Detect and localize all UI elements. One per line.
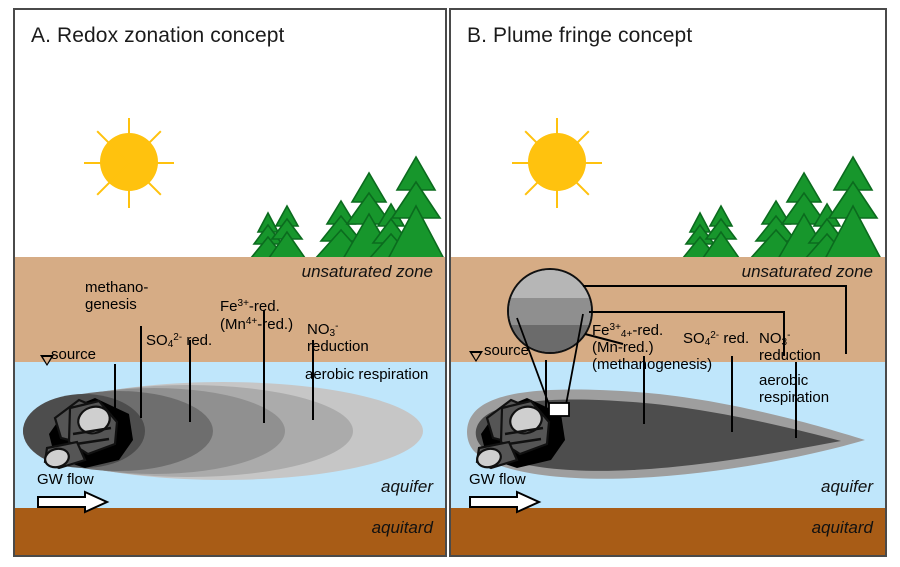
tree-group bbox=[245, 140, 445, 265]
iron-charge-b: 3+ bbox=[610, 322, 621, 333]
sun-ray bbox=[128, 163, 130, 208]
sun-ray bbox=[512, 162, 557, 164]
water-table-icon-b bbox=[469, 351, 483, 362]
sulfate-formula: SO bbox=[146, 332, 168, 349]
nitrate-reduction-label-b: NO3- reduction bbox=[759, 330, 821, 365]
tick-sulfate-b bbox=[731, 356, 733, 432]
sun-ray bbox=[128, 118, 130, 163]
panel-a-redox-zonation: A. Redox zonation concept bbox=[13, 8, 447, 557]
figure-root: A. Redox zonation concept bbox=[0, 0, 900, 567]
sulfate-suffix-b: red. bbox=[723, 330, 749, 347]
manganese-suffix: -red.) bbox=[257, 316, 293, 333]
iron-element-b: Fe bbox=[592, 322, 610, 339]
aerobic-respiration-label-b: aerobic respiration bbox=[759, 373, 829, 407]
sulfate-reduction-label-a: SO42- red. bbox=[146, 332, 212, 350]
tick-source-b bbox=[545, 360, 547, 412]
tick-methanogenesis-a bbox=[140, 326, 142, 418]
iron-charge: 3+ bbox=[238, 298, 249, 309]
sun-ray bbox=[556, 118, 558, 163]
nitrate-line2: reduction bbox=[307, 338, 369, 355]
tree-tall-2 bbox=[825, 157, 881, 259]
sun-ray bbox=[556, 163, 558, 208]
methanogenesis-label-a: methano- genesis bbox=[85, 280, 148, 314]
aquitard-label-a: aquitard bbox=[372, 518, 433, 538]
nitrate-reduction-label-a: NO3- reduction bbox=[307, 321, 369, 356]
manganese-element: (Mn bbox=[220, 316, 246, 333]
methanogenesis-parenthetical-b: (methanogenesis) bbox=[592, 356, 712, 373]
aquifer-label-a: aquifer bbox=[381, 477, 433, 497]
iron-element: Fe bbox=[220, 298, 238, 315]
gw-flow-label-b: GW flow bbox=[469, 471, 526, 488]
iron-manganese-reduction-label-a: Fe3+-red. (Mn4+-red.) bbox=[220, 298, 293, 334]
aquitard-label-b: aquitard bbox=[812, 518, 873, 538]
aerobic-line2-b: respiration bbox=[759, 389, 829, 406]
methanogenesis-line2: genesis bbox=[85, 296, 137, 313]
sulfate-suffix: red. bbox=[186, 332, 212, 349]
panel-b-plume-fringe: B. Plume fringe concept bbox=[449, 8, 887, 557]
sun-ray bbox=[84, 162, 129, 164]
source-label-a: source bbox=[51, 347, 96, 364]
nitrate-sup: - bbox=[335, 321, 338, 332]
sun-ray bbox=[129, 162, 174, 164]
unsaturated-zone-label-a: unsaturated zone bbox=[302, 262, 433, 282]
iron-suffix: -red. bbox=[249, 298, 280, 315]
sulfate-sup-b: 2- bbox=[710, 330, 719, 341]
tick-sulfate-a bbox=[189, 340, 191, 422]
nitrate-formula-b: NO bbox=[759, 330, 782, 347]
gw-flow-arrow-icon-a bbox=[37, 491, 109, 513]
tree-tall-2 bbox=[388, 157, 444, 259]
gw-flow-label-a: GW flow bbox=[37, 471, 94, 488]
sun-ray bbox=[557, 162, 602, 164]
nitrate-line2-b: reduction bbox=[759, 347, 821, 364]
manganese-element-b: (Mn bbox=[592, 339, 618, 356]
manganese-charge: 4+ bbox=[246, 316, 257, 327]
sulfate-formula-b: SO bbox=[683, 330, 705, 347]
tick-source-a bbox=[114, 364, 116, 416]
methanogenesis-line1: methano- bbox=[85, 279, 148, 296]
tree-group bbox=[677, 140, 882, 265]
panel-a-title: A. Redox zonation concept bbox=[31, 24, 285, 48]
iron-suffix-b: -red. bbox=[632, 322, 663, 339]
nitrate-formula: NO bbox=[307, 321, 330, 338]
sulfate-reduction-label-b: SO42- red. bbox=[683, 330, 749, 348]
gw-flow-arrow-icon-b bbox=[469, 491, 541, 513]
sulfate-sup: 2- bbox=[173, 332, 182, 343]
source-label-b: source bbox=[484, 343, 529, 360]
panel-b-title: B. Plume fringe concept bbox=[467, 24, 692, 48]
aerobic-respiration-label-a: aerobic respiration bbox=[305, 367, 428, 384]
manganese-suffix-b: -red.) bbox=[618, 339, 654, 356]
nitrate-sup-b: - bbox=[787, 330, 790, 341]
aerobic-line1-b: aerobic bbox=[759, 372, 808, 389]
